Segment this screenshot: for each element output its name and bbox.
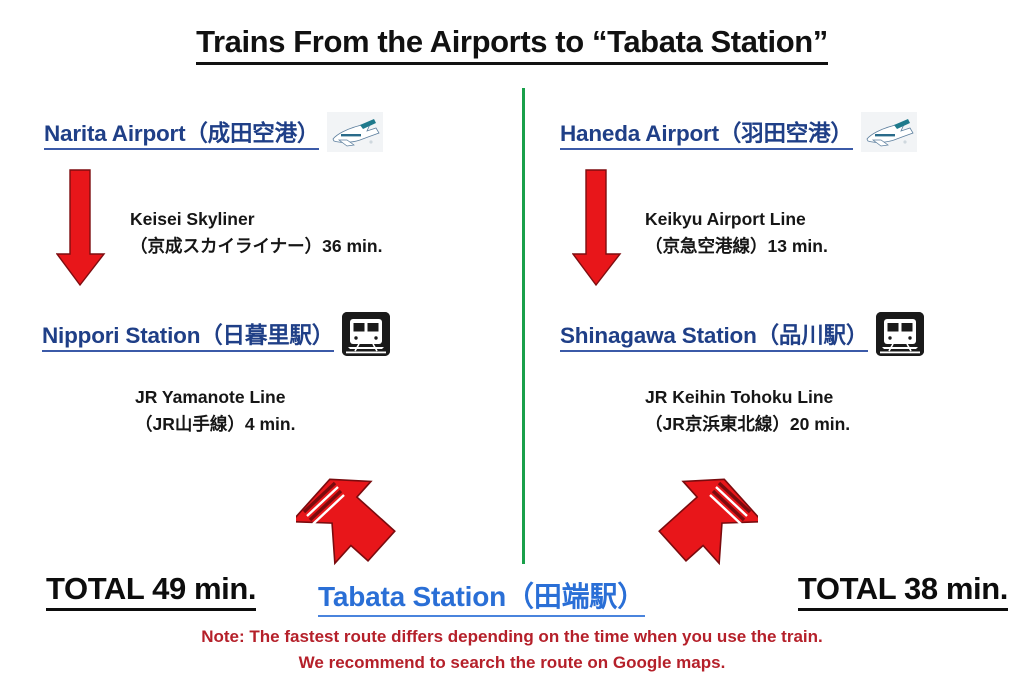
- page-title: Trains From the Airports to “Tabata Stat…: [0, 24, 1024, 60]
- origin-node-narita: Narita Airport（成田空港）: [44, 112, 383, 152]
- leg-line-en: JR Keihin Tohoku Line: [645, 384, 850, 411]
- leg-description-right-1: Keikyu Airport Line （京急空港線）13 min.: [645, 206, 828, 259]
- vertical-green-divider: [522, 88, 525, 564]
- down-arrow-icon-right: [572, 168, 624, 288]
- train-icon: [876, 312, 924, 356]
- note-line-2: We recommend to search the route on Goog…: [0, 650, 1024, 676]
- total-left: TOTAL 49 min.: [46, 571, 256, 607]
- leg-description-left-2: JR Yamanote Line （JR山手線）4 min.: [135, 384, 295, 437]
- transfer-node-shinagawa: Shinagawa Station（品川駅）: [560, 312, 924, 356]
- diagonal-down-left-arrow-icon: [648, 473, 758, 568]
- leg-description-left-1: Keisei Skyliner （京成スカイライナー）36 min.: [130, 206, 382, 259]
- destination-label: Tabata Station（田端駅）: [318, 581, 645, 617]
- airplane-icon: [327, 112, 383, 152]
- airplane-icon: [861, 112, 917, 152]
- leg-line-jp-duration: （JR山手線）4 min.: [135, 411, 295, 438]
- train-icon: [342, 312, 390, 356]
- leg-line-jp-duration: （JR京浜東北線）20 min.: [645, 411, 850, 438]
- total-right-label: TOTAL 38 min.: [798, 571, 1008, 611]
- down-arrow-icon-left: [56, 168, 108, 288]
- transfer-label-nippori: Nippori Station（日暮里駅）: [42, 318, 334, 350]
- leg-line-jp-duration: （京急空港線）13 min.: [645, 233, 828, 260]
- total-right: TOTAL 38 min.: [798, 571, 1008, 607]
- note-line-1: Note: The fastest route differs dependin…: [0, 624, 1024, 650]
- leg-line-en: Keikyu Airport Line: [645, 206, 828, 233]
- infographic-canvas: Trains From the Airports to “Tabata Stat…: [0, 0, 1024, 683]
- note-block: Note: The fastest route differs dependin…: [0, 624, 1024, 677]
- origin-label-narita: Narita Airport（成田空港）: [44, 116, 319, 148]
- leg-line-en: JR Yamanote Line: [135, 384, 295, 411]
- total-left-label: TOTAL 49 min.: [46, 571, 256, 611]
- origin-label-haneda: Haneda Airport（羽田空港）: [560, 116, 853, 148]
- diagonal-down-right-arrow-icon: [296, 473, 406, 568]
- leg-line-jp-duration: （京成スカイライナー）36 min.: [130, 233, 382, 260]
- transfer-node-nippori: Nippori Station（日暮里駅）: [42, 312, 390, 356]
- page-title-text: Trains From the Airports to “Tabata Stat…: [196, 24, 828, 65]
- leg-description-right-2: JR Keihin Tohoku Line （JR京浜東北線）20 min.: [645, 384, 850, 437]
- leg-line-en: Keisei Skyliner: [130, 206, 382, 233]
- origin-node-haneda: Haneda Airport（羽田空港）: [560, 112, 917, 152]
- transfer-label-shinagawa: Shinagawa Station（品川駅）: [560, 318, 868, 350]
- destination-node-tabata: Tabata Station（田端駅）: [318, 575, 645, 615]
